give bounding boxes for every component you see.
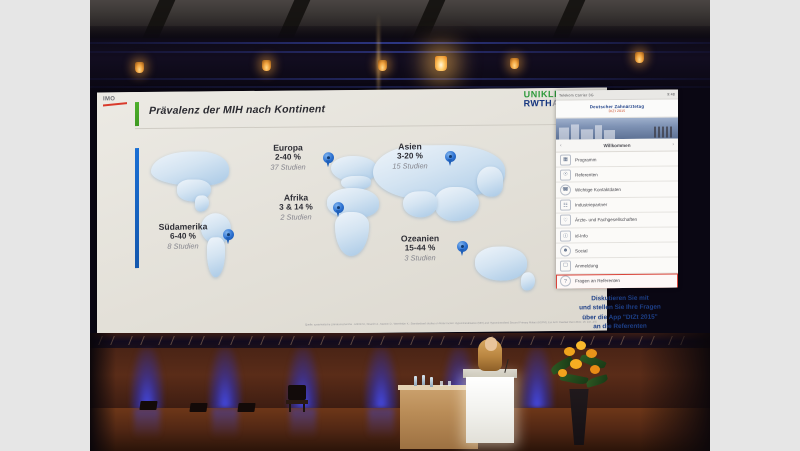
chevron-right-icon[interactable]: › — [672, 141, 674, 147]
menu-item-fragen-an-referenten[interactable]: ? Fragen an Referenten — [556, 273, 678, 289]
map-pin-ozeanien — [457, 241, 468, 256]
spotlight — [435, 56, 447, 71]
map-pin-europa — [323, 152, 334, 167]
stage-truss — [90, 333, 710, 348]
app-nav-title: Willkommen — [603, 142, 630, 147]
stage-monitor — [139, 401, 157, 410]
stage-monitor — [237, 403, 255, 412]
lectern — [466, 363, 514, 443]
drinking-glass — [448, 381, 451, 386]
slide-footnote: Quelle: systematische Literaturrecherche… — [117, 321, 597, 329]
uplight — [208, 348, 242, 408]
spotlight — [635, 52, 644, 63]
uplight — [364, 348, 398, 408]
stage-monitor — [189, 403, 207, 412]
spotlight — [510, 58, 519, 69]
menu-item-anmeldung[interactable]: ☐ Anmeldung — [556, 258, 678, 274]
hero-people — [654, 126, 674, 137]
stage-chair — [286, 385, 308, 411]
info-icon: ⓘ — [560, 230, 571, 241]
partners-icon: ☷ — [560, 200, 571, 211]
phone-mockup: Telekom Carrier 3G 9:48 Deutscher Zahnär… — [556, 89, 678, 288]
world-map: Europa 2-40 % 37 Studien Asien 3-20 % 15… — [145, 134, 597, 313]
menu-item-programm[interactable]: ▦ Programm — [556, 151, 678, 167]
speaker-person — [478, 335, 504, 375]
phone-icon: ☎ — [560, 184, 571, 195]
map-pin-asien — [445, 151, 456, 166]
map-label-afrika: Afrika 3 & 14 % 2 Studien — [263, 192, 329, 222]
app-promo-panel: Telekom Carrier 3G 9:48 Deutscher Zahnär… — [556, 89, 686, 333]
ceiling — [90, 0, 710, 40]
status-time: 9:48 — [667, 92, 675, 96]
map-label-asien: Asien 3-20 % 15 Studien — [379, 141, 441, 171]
menu-item-referenten[interactable]: ☉ Referenten — [556, 167, 678, 183]
status-carrier: Telekom Carrier 3G — [559, 93, 594, 97]
menu-item-industriepartner[interactable]: ☷ Industriepartner — [556, 197, 678, 213]
lighting-truss — [90, 38, 710, 90]
menu-item-fachgesellschaften[interactable]: ♡ Ärzte- und Fachgesellschaften — [556, 212, 678, 228]
water-bottle — [414, 376, 417, 386]
society-icon: ♡ — [560, 215, 571, 226]
map-pin-afrika — [333, 202, 344, 217]
map-pin-suedamerika — [223, 229, 234, 244]
app-brand-line1: Deutscher Zahnärztetag — [590, 104, 644, 110]
right-margin — [710, 0, 800, 451]
screenshot-root: IMO Prävalenz der MIH nach Kontinent UNI… — [0, 0, 800, 451]
corner-logo-bar — [103, 102, 127, 106]
menu-item-id-info[interactable]: ⓘ id-Info — [556, 227, 678, 243]
water-bottle — [430, 377, 433, 387]
spotlight — [135, 62, 144, 73]
drinking-glass — [440, 381, 443, 386]
app-brand-line2: DtZt 2015 — [609, 109, 626, 113]
spotlight — [378, 60, 387, 71]
map-label-suedamerika: Südamerika 6-40 % 8 Studien — [147, 221, 219, 251]
spotlight — [262, 60, 271, 71]
app-nav-bar: ‹ Willkommen › — [556, 138, 678, 152]
uplight — [130, 348, 164, 408]
blue-accent-bar — [135, 148, 139, 268]
question-icon: ? — [560, 276, 571, 287]
speaker-icon: ☉ — [560, 169, 571, 180]
app-hero-image — [556, 117, 678, 139]
menu-item-kontaktdaten[interactable]: ☎ Wichtige Kontaktdaten — [556, 182, 678, 198]
map-label-ozeanien: Ozeanien 15-44 % 3 Studien — [387, 233, 453, 263]
stage-area — [90, 333, 710, 451]
app-menu-list: ▦ Programm ☉ Referenten ☎ Wichtige Konta… — [556, 151, 678, 288]
projection-screen: IMO Prävalenz der MIH nach Kontinent UNI… — [97, 88, 607, 336]
left-margin — [0, 0, 90, 451]
presentation-slide: IMO Prävalenz der MIH nach Kontinent UNI… — [97, 88, 607, 336]
app-brand-bar: Deutscher Zahnärztetag DtZt 2015 — [556, 99, 678, 118]
corner-logo: IMO — [103, 96, 129, 105]
map-label-europa: Europa 2-40 % 37 Studien — [257, 142, 319, 172]
menu-item-social[interactable]: ☻ Social — [556, 243, 678, 259]
flower-arrangement — [546, 335, 616, 393]
green-accent-bar — [135, 102, 139, 126]
social-icon: ☻ — [560, 245, 571, 256]
calendar-icon: ▦ — [560, 154, 571, 165]
water-bottle — [422, 375, 425, 385]
form-icon: ☐ — [560, 260, 571, 271]
conference-photo: IMO Prävalenz der MIH nach Kontinent UNI… — [90, 0, 710, 451]
cta-line4: an die Referenten — [556, 321, 684, 332]
call-to-action: Diskutieren Sie mit und stellen Sie Ihre… — [556, 293, 684, 331]
chevron-left-icon[interactable]: ‹ — [560, 143, 562, 149]
